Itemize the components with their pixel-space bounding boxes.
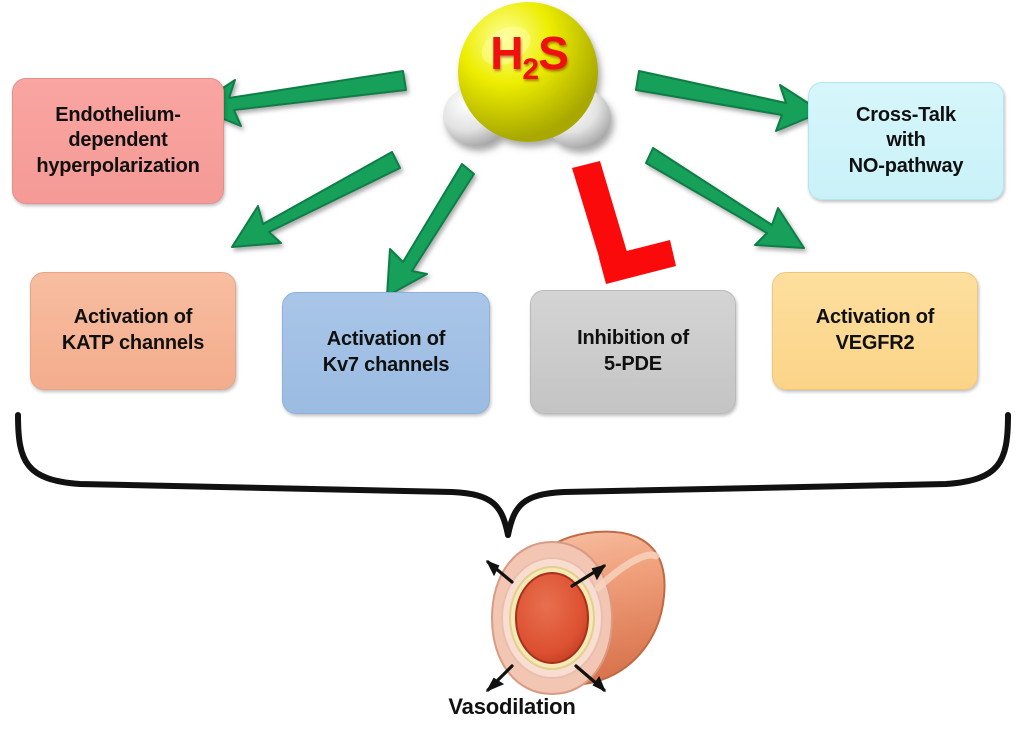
arrow-to-kv7 (387, 164, 474, 296)
diagram-canvas: H2S Endothelium- dependent hyperpolariza… (0, 0, 1024, 740)
node-label: Inhibition of 5-PDE (577, 326, 689, 377)
node-activation-kv7-channels[interactable]: Activation of Kv7 channels (282, 292, 490, 414)
node-inhibition-5-pde[interactable]: Inhibition of 5-PDE (530, 290, 736, 414)
h2s-molecule: H2S (434, 4, 624, 154)
node-label: Activation of VEGFR2 (816, 305, 935, 356)
arrow-to-vegfr2 (646, 148, 804, 248)
arrow-to-cross-talk (636, 71, 822, 131)
arrow-to-katp (232, 152, 400, 247)
h2s-formula-sub: 2 (522, 53, 538, 86)
h2s-formula-h: H (490, 27, 522, 79)
arrow-to-endothelium (194, 71, 406, 126)
node-label: Activation of Kv7 channels (323, 327, 450, 378)
node-endothelium-dependent-hyperpolarization[interactable]: Endothelium- dependent hyperpolarization (12, 78, 224, 204)
h2s-formula-s: S (538, 27, 568, 79)
convergence-brace (18, 415, 1008, 535)
node-activation-katp-channels[interactable]: Activation of KATP channels (30, 272, 236, 390)
blood-vessel-icon (488, 532, 665, 694)
arrow-to-5pde (572, 161, 676, 284)
node-label: Cross-Talk with NO-pathway (849, 103, 964, 180)
node-activation-vegfr2[interactable]: Activation of VEGFR2 (772, 272, 978, 390)
h2s-formula-label: H2S (434, 26, 624, 87)
node-cross-talk-no-pathway[interactable]: Cross-Talk with NO-pathway (808, 82, 1004, 200)
node-label: Endothelium- dependent hyperpolarization (36, 103, 199, 180)
node-label: Activation of KATP channels (62, 305, 204, 356)
vasodilation-label: Vasodilation (0, 694, 1024, 720)
